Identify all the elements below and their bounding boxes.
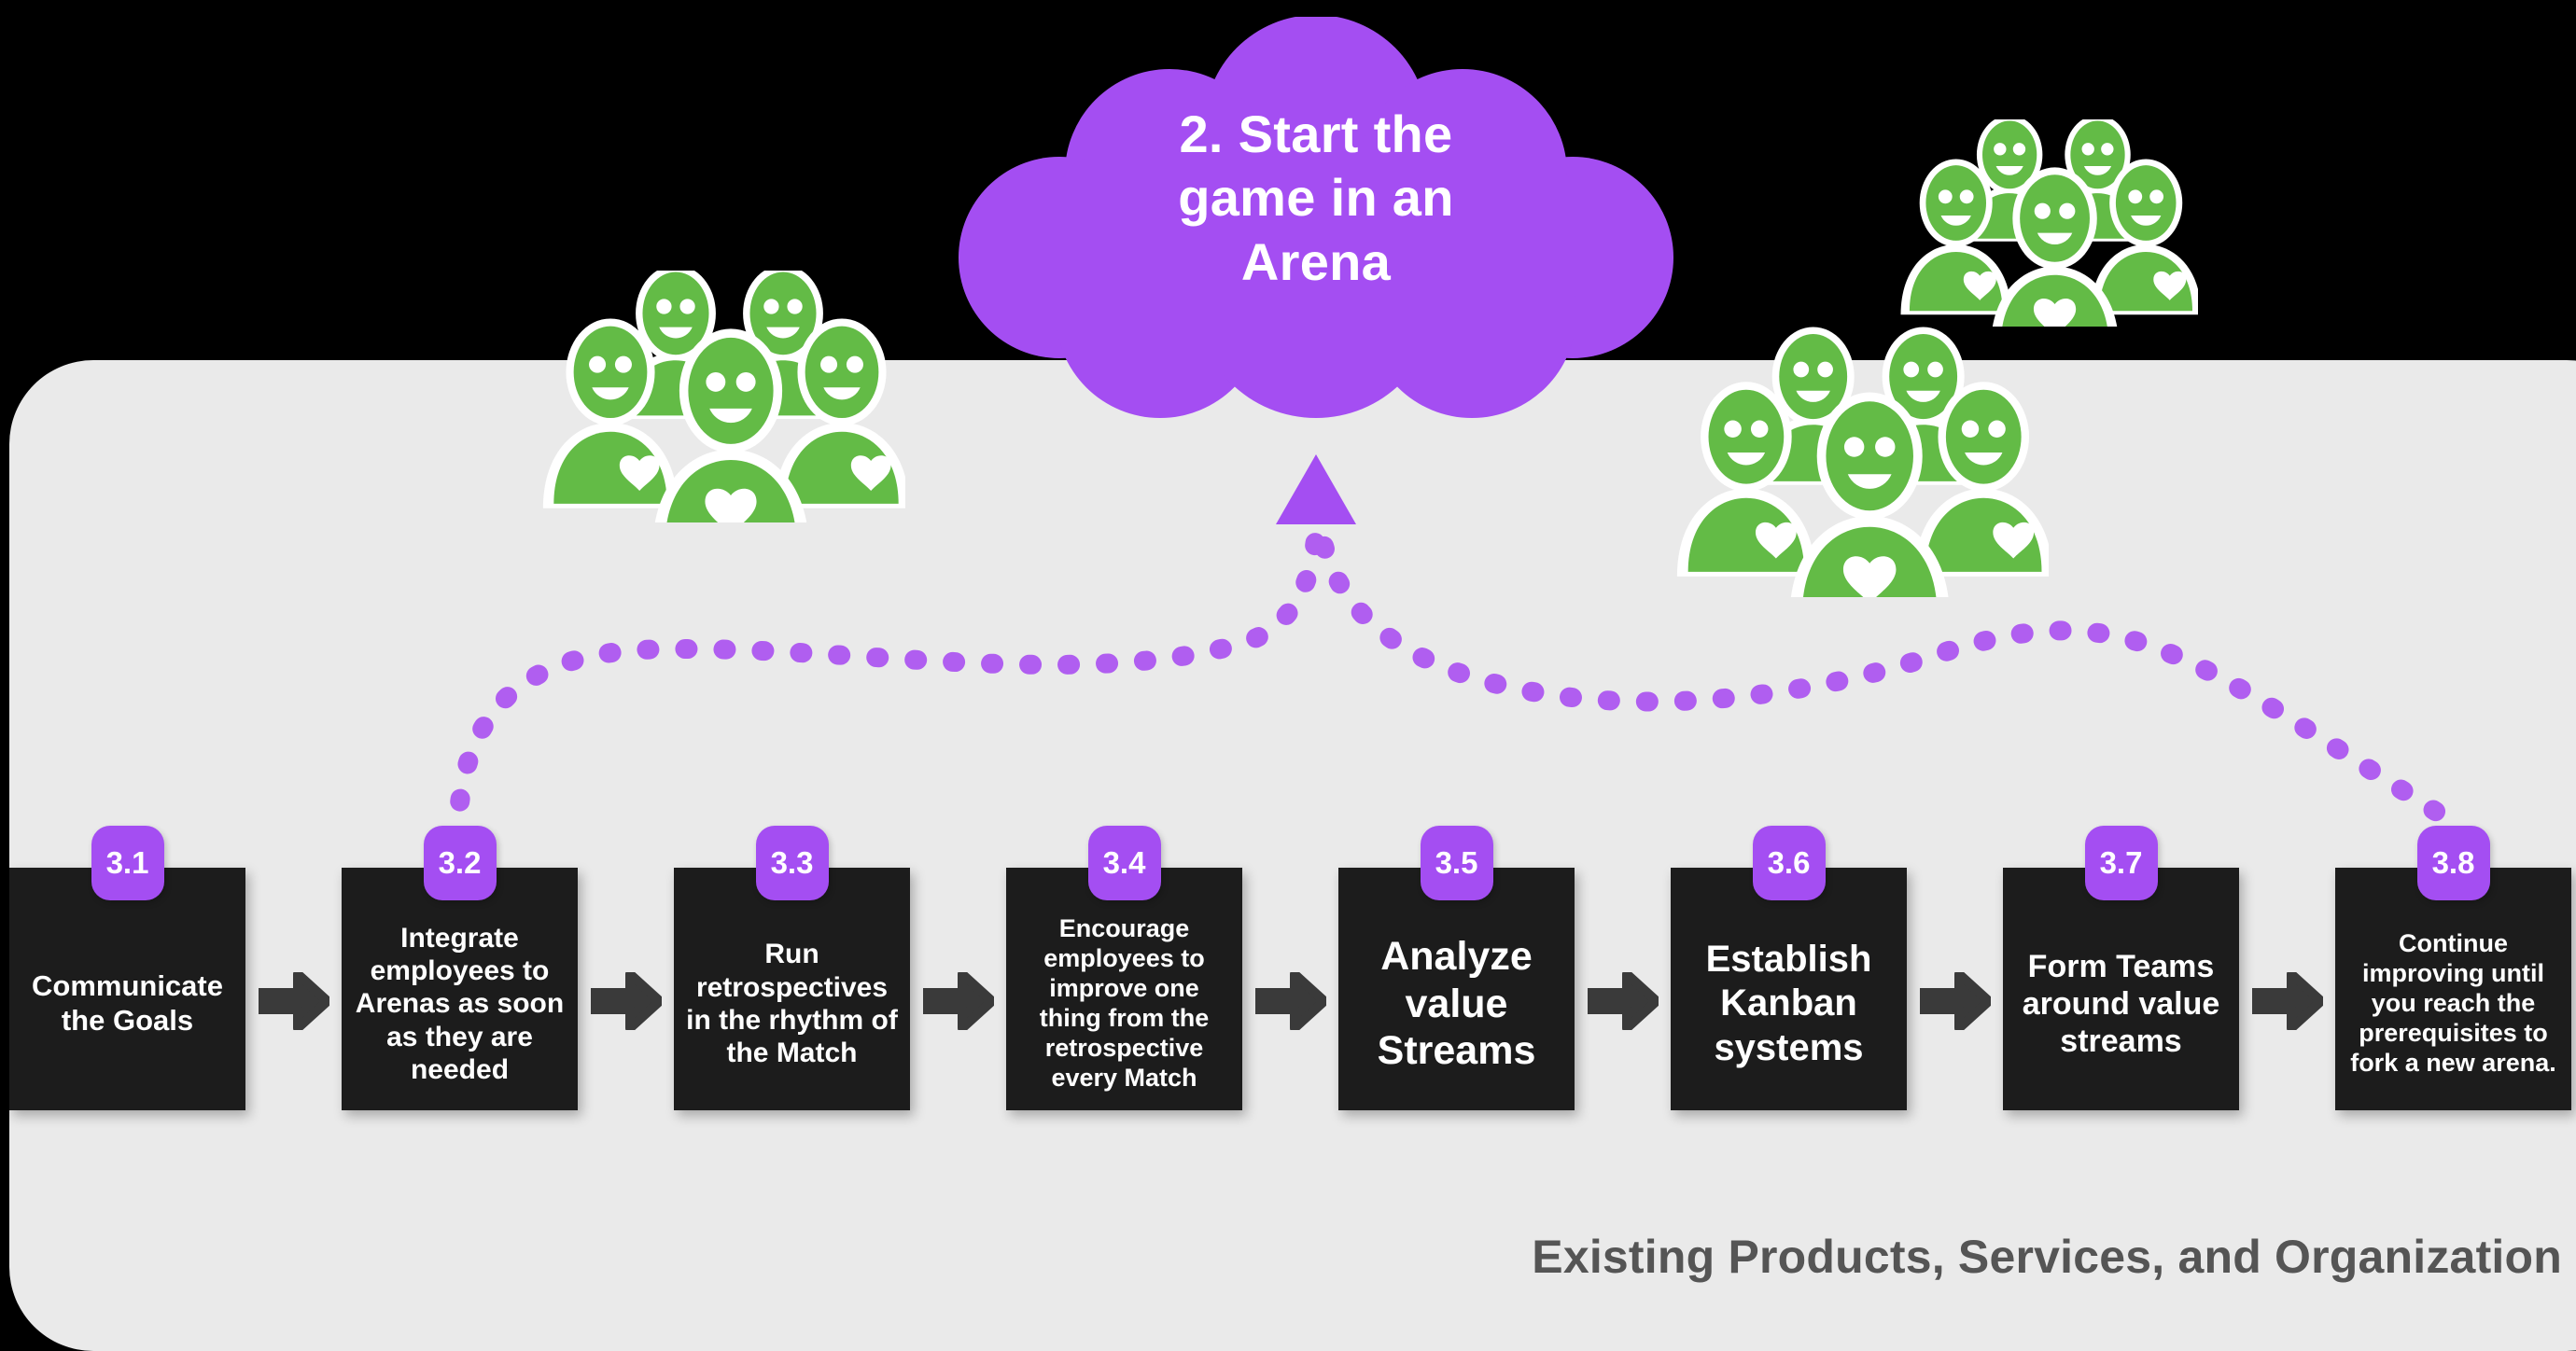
step-card[interactable]: Encourage employees to improve one thing… [1006,868,1242,1110]
right-arrow-icon [923,972,994,1035]
step-card[interactable]: Run retrospectives in the rhythm of the … [674,868,910,1110]
step-badge: 3.2 [424,826,497,900]
step-label: Integrate employees to Arenas as soon as… [353,922,567,1087]
step-badge: 3.5 [1421,826,1493,900]
step-badge: 3.8 [2417,826,2490,900]
step-badge: 3.3 [756,826,829,900]
people-group-icon-right [1899,119,2198,331]
people-group-icon-center [1675,327,2049,602]
cloud-callout-title: 2. Start the game in an Arena [919,103,1713,294]
step-badge: 3.7 [2085,826,2158,900]
step-card[interactable]: Integrate employees to Arenas as soon as… [342,868,578,1110]
step-label: Analyze value Streams [1350,933,1563,1075]
panel-caption: Existing Products, Services, and Organiz… [0,1230,2562,1284]
cloud-title-line-3: Arena [919,230,1713,294]
right-arrow-icon [259,972,329,1035]
step-label: Communicate the Goals [21,969,234,1038]
right-arrow-icon [591,972,662,1035]
step-card[interactable]: Communicate the Goals [9,868,245,1110]
step-card[interactable]: Continue improving until you reach the p… [2335,868,2571,1110]
cloud-title-line-1: 2. Start the [919,103,1713,166]
right-arrow-icon [1255,972,1326,1035]
right-arrow-icon [1588,972,1659,1035]
right-arrow-icon [1920,972,1991,1035]
cloud-title-line-2: game in an [919,166,1713,230]
step-label: Form Teams around value streams [2014,948,2228,1060]
step-badge: 3.1 [91,826,164,900]
step-card[interactable]: Establish Kanban systems [1671,868,1907,1110]
right-arrow-icon [2252,972,2323,1035]
step-badge: 3.4 [1088,826,1161,900]
step-badge: 3.6 [1753,826,1826,900]
existing-organization-panel [9,360,2576,1351]
step-label: Run retrospectives in the rhythm of the … [685,938,899,1070]
step-card[interactable]: Analyze value Streams [1338,868,1575,1110]
process-step-row: Communicate the Goals 3.1 Integrate empl… [0,868,2576,1148]
diagram-canvas: 2. Start the game in an Arena [0,0,2576,1351]
step-card[interactable]: Form Teams around value streams [2003,868,2239,1110]
cloud-callout: 2. Start the game in an Arena [919,17,1713,427]
step-label: Establish Kanban systems [1682,938,1896,1070]
step-label: Encourage employees to improve one thing… [1017,914,1231,1093]
step-label: Continue improving until you reach the p… [2346,929,2560,1078]
people-group-icon-left [541,271,905,527]
